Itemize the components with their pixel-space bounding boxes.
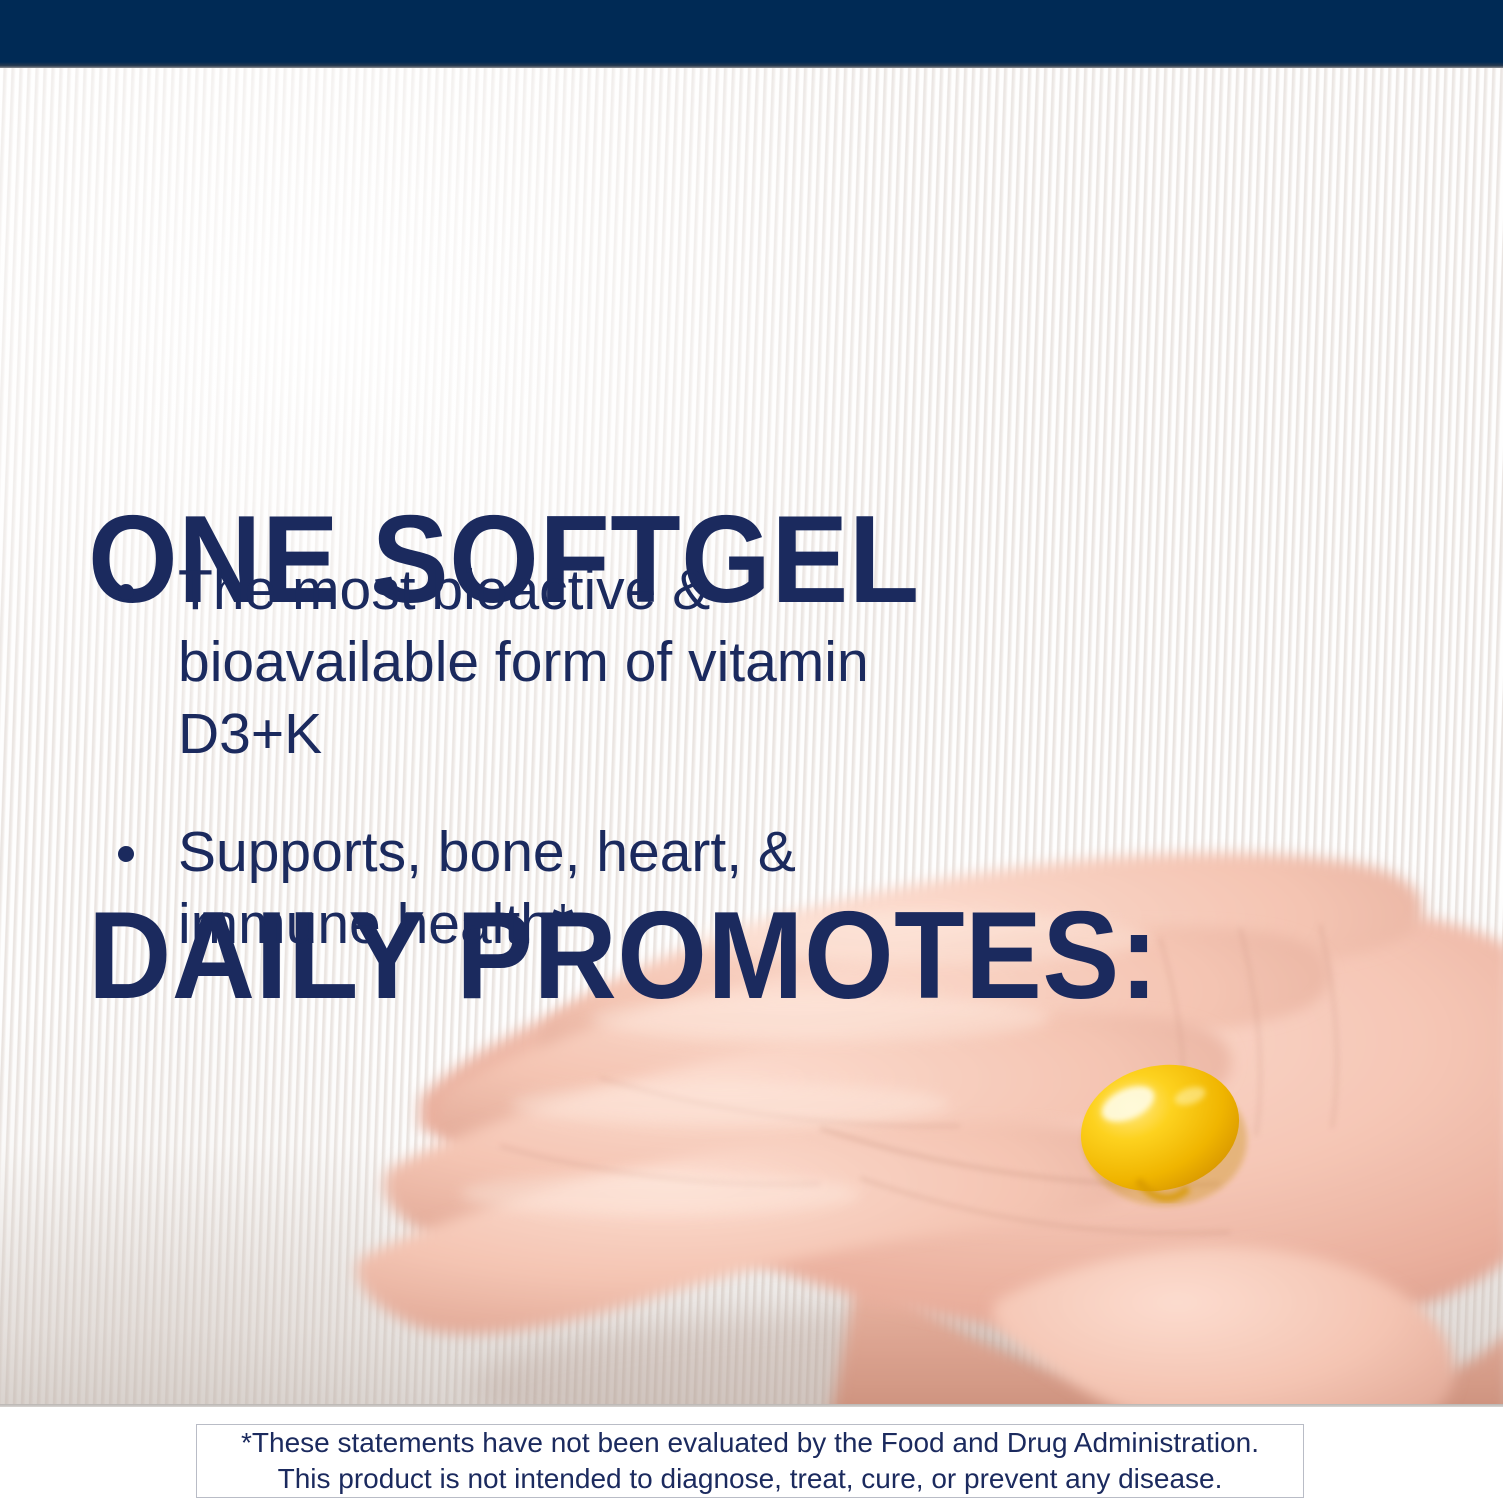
bullet-dot-icon	[118, 846, 134, 862]
benefit-text: The most bioactive & bioavailable form o…	[178, 554, 948, 770]
list-item: The most bioactive & bioavailable form o…	[118, 554, 948, 770]
top-navy-band	[0, 0, 1503, 68]
bullet-dot-icon	[118, 584, 134, 600]
list-item: Supports, bone, heart, & immune health*	[118, 816, 948, 960]
footer-area: *These statements have not been evaluate…	[0, 1407, 1503, 1503]
benefits-list: The most bioactive & bioavailable form o…	[118, 554, 948, 960]
product-photo: ONE SOFTGEL DAILY PROMOTES: The most bio…	[0, 68, 1503, 1405]
benefit-text: Supports, bone, heart, & immune health*	[178, 816, 948, 960]
disclaimer-line-1: *These statements have not been evaluate…	[241, 1425, 1259, 1461]
disclaimer-line-2: This product is not intended to diagnose…	[278, 1461, 1223, 1497]
fda-disclaimer-box: *These statements have not been evaluate…	[196, 1424, 1304, 1498]
product-feature-image: ONE SOFTGEL DAILY PROMOTES: The most bio…	[0, 0, 1503, 1503]
